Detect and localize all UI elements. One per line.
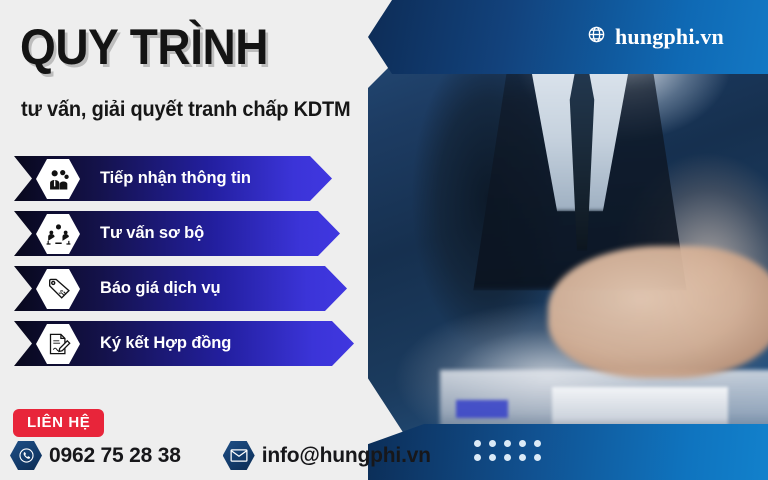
contact-row: 0962 75 28 38 info@hungphi.vn — [10, 441, 431, 470]
dot-grid-decoration — [474, 440, 541, 461]
step-label: Tư vấn sơ bộ — [100, 211, 204, 256]
phone-contact[interactable]: 0962 75 28 38 — [10, 441, 181, 470]
email-address-text: info@hungphi.vn — [262, 444, 431, 468]
photo-note-shape — [456, 400, 508, 418]
step-label: Tiếp nhận thông tin — [100, 156, 251, 201]
website-url-text: hungphi.vn — [615, 24, 724, 50]
globe-icon — [587, 24, 606, 50]
website-badge[interactable]: hungphi.vn — [587, 24, 724, 50]
photo-hands-shape — [548, 246, 768, 378]
page-subtitle: tư vấn, giải quyết tranh chấp KDTM — [21, 98, 350, 122]
website-band: hungphi.vn — [368, 0, 768, 74]
step-label: Báo giá dịch vụ — [100, 266, 220, 311]
page-title: QUY TRÌNH — [20, 22, 268, 72]
step-label: Ký kết Hợp đồng — [100, 321, 231, 366]
envelope-icon — [223, 441, 255, 470]
email-contact[interactable]: info@hungphi.vn — [223, 441, 431, 470]
contact-badge[interactable]: LIÊN HỆ — [13, 409, 104, 437]
photo-panel: hungphi.vn — [368, 0, 768, 480]
promotional-banner: hungphi.vn QUY TRÌNH tư vấn, giải quyết … — [0, 0, 768, 480]
phone-icon — [10, 441, 42, 470]
phone-number-text: 0962 75 28 38 — [49, 444, 181, 468]
